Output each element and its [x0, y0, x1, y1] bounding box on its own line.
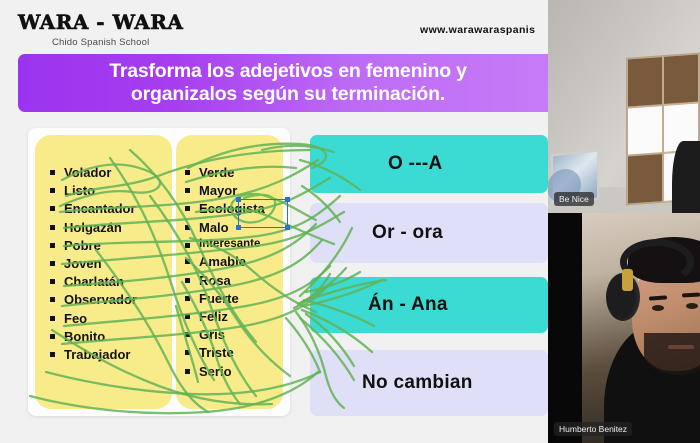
- word-item[interactable]: Mayor: [185, 184, 265, 197]
- eye-left: [652, 305, 664, 311]
- word-item[interactable]: Feo: [50, 312, 137, 325]
- word-item[interactable]: Observador: [50, 293, 137, 306]
- video-participant-column: Be Nice Humberto Beni: [548, 0, 700, 443]
- instruction-line-2: organizalos según su terminación.: [109, 83, 467, 106]
- word-item[interactable]: Interesante: [185, 239, 265, 251]
- shared-slide: WARA - WARA Chido Spanish School www.war…: [0, 0, 548, 443]
- word-item[interactable]: Pobre: [50, 239, 137, 252]
- resize-handle-bottom-right[interactable]: [285, 225, 290, 230]
- word-list-column-a: Volador Listo Encantador Holgazán Pobre …: [50, 166, 137, 366]
- video-tile-humberto-benitez[interactable]: Humberto Benitez: [548, 213, 700, 443]
- eye-right: [686, 303, 698, 309]
- instruction-text: Trasforma los adejetivos en femenino y o…: [109, 60, 467, 106]
- word-item[interactable]: Triste: [185, 346, 265, 359]
- word-item[interactable]: Gris: [185, 328, 265, 341]
- category-label: O ---A: [388, 153, 443, 175]
- word-item[interactable]: Listo: [50, 184, 137, 197]
- person-mouth: [668, 345, 694, 349]
- word-item[interactable]: Holgazán: [50, 221, 137, 234]
- shelf-cell: [663, 53, 699, 104]
- word-item[interactable]: Bonito: [50, 330, 137, 343]
- word-item[interactable]: Encantador: [50, 202, 137, 215]
- category-box-or-ora[interactable]: Or - ora: [310, 203, 548, 263]
- word-item[interactable]: Rosa: [185, 274, 265, 287]
- video-tile-be-nice[interactable]: Be Nice: [548, 0, 700, 213]
- word-item[interactable]: Serio: [185, 365, 265, 378]
- screen: WARA - WARA Chido Spanish School www.war…: [0, 0, 700, 443]
- instruction-line-1: Trasforma los adejetivos en femenino y: [109, 60, 467, 83]
- video-feed-person: [548, 213, 700, 443]
- resize-handle-bottom-left[interactable]: [236, 225, 241, 230]
- category-label: No cambian: [362, 372, 473, 394]
- shelf-cell: [627, 105, 663, 156]
- brand-logo: WARA - WARA Chido Spanish School: [18, 10, 183, 48]
- category-label: Án - Ana: [368, 294, 448, 316]
- category-box-o-a[interactable]: O ---A: [310, 135, 548, 193]
- word-item[interactable]: Charlatán: [50, 275, 137, 288]
- participant-name-tag: Be Nice: [554, 192, 594, 207]
- word-item[interactable]: Volador: [50, 166, 137, 179]
- resize-handle-top-right[interactable]: [285, 197, 290, 202]
- shelf-cell: [627, 56, 663, 107]
- instruction-banner: Trasforma los adejetivos en femenino y o…: [18, 54, 548, 112]
- video-feed-room: [548, 0, 700, 213]
- word-item[interactable]: Feliz: [185, 310, 265, 323]
- headphone-accent: [622, 269, 633, 291]
- category-box-an-ana[interactable]: Án - Ana: [310, 277, 548, 333]
- category-box-no-cambian[interactable]: No cambian: [310, 350, 548, 416]
- participant-name-tag: Humberto Benitez: [554, 422, 632, 437]
- category-label: Or - ora: [372, 222, 443, 244]
- word-item[interactable]: Amable: [185, 255, 265, 268]
- word-item[interactable]: Joven: [50, 257, 137, 270]
- person-silhouette: [672, 141, 700, 213]
- shelf-cell: [627, 153, 663, 204]
- word-item[interactable]: Verde: [185, 166, 265, 179]
- word-item[interactable]: Trabajador: [50, 348, 137, 361]
- annotation-selection-box[interactable]: [238, 199, 288, 228]
- resize-handle-top-left[interactable]: [236, 197, 241, 202]
- website-url: www.warawaraspanis: [420, 24, 535, 36]
- logo-wordmark: WARA - WARA: [18, 10, 183, 34]
- word-item[interactable]: Fuerte: [185, 292, 265, 305]
- logo-tagline: Chido Spanish School: [18, 37, 183, 48]
